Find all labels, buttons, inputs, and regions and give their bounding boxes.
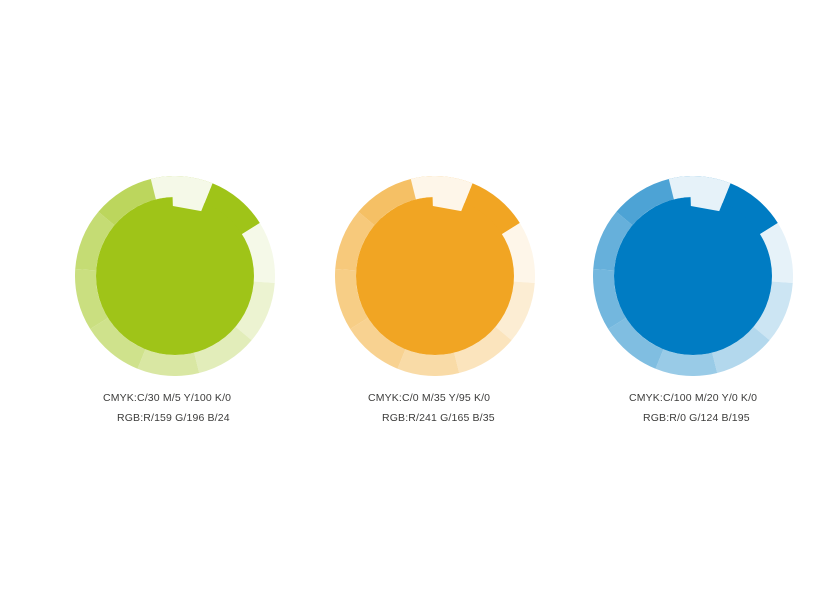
cmyk-value-orange: CMYK:C/0 M/35 Y/95 K/0 bbox=[368, 388, 628, 408]
color-caption-orange: CMYK:C/0 M/35 Y/95 K/0 RGB:R/241 G/165 B… bbox=[368, 388, 628, 428]
rgb-value-orange: RGB:R/241 G/165 B/35 bbox=[382, 408, 628, 428]
color-wheel-orange bbox=[335, 176, 535, 376]
color-caption-green: CMYK:C/30 M/5 Y/100 K/0 RGB:R/159 G/196 … bbox=[103, 388, 363, 428]
rgb-value-blue: RGB:R/0 G/124 B/195 bbox=[643, 408, 838, 428]
color-caption-blue: CMYK:C/100 M/20 Y/0 K/0 RGB:R/0 G/124 B/… bbox=[629, 388, 838, 428]
wheel-core bbox=[96, 197, 254, 355]
color-swatch-blue bbox=[578, 170, 808, 380]
cmyk-value-green: CMYK:C/30 M/5 Y/100 K/0 bbox=[103, 388, 363, 408]
wheel-core bbox=[356, 197, 514, 355]
color-swatch-orange bbox=[320, 170, 550, 380]
wheel-core bbox=[614, 197, 772, 355]
color-swatch-green bbox=[60, 170, 290, 380]
palette-canvas: CMYK:C/30 M/5 Y/100 K/0 RGB:R/159 G/196 … bbox=[0, 0, 838, 597]
color-wheel-green bbox=[75, 176, 275, 376]
color-wheel-blue-wrap bbox=[578, 170, 808, 380]
color-wheel-blue bbox=[593, 176, 793, 376]
color-wheel-orange-wrap bbox=[320, 170, 550, 380]
color-wheel-green-wrap bbox=[60, 170, 290, 380]
rgb-value-green: RGB:R/159 G/196 B/24 bbox=[117, 408, 363, 428]
cmyk-value-blue: CMYK:C/100 M/20 Y/0 K/0 bbox=[629, 388, 838, 408]
